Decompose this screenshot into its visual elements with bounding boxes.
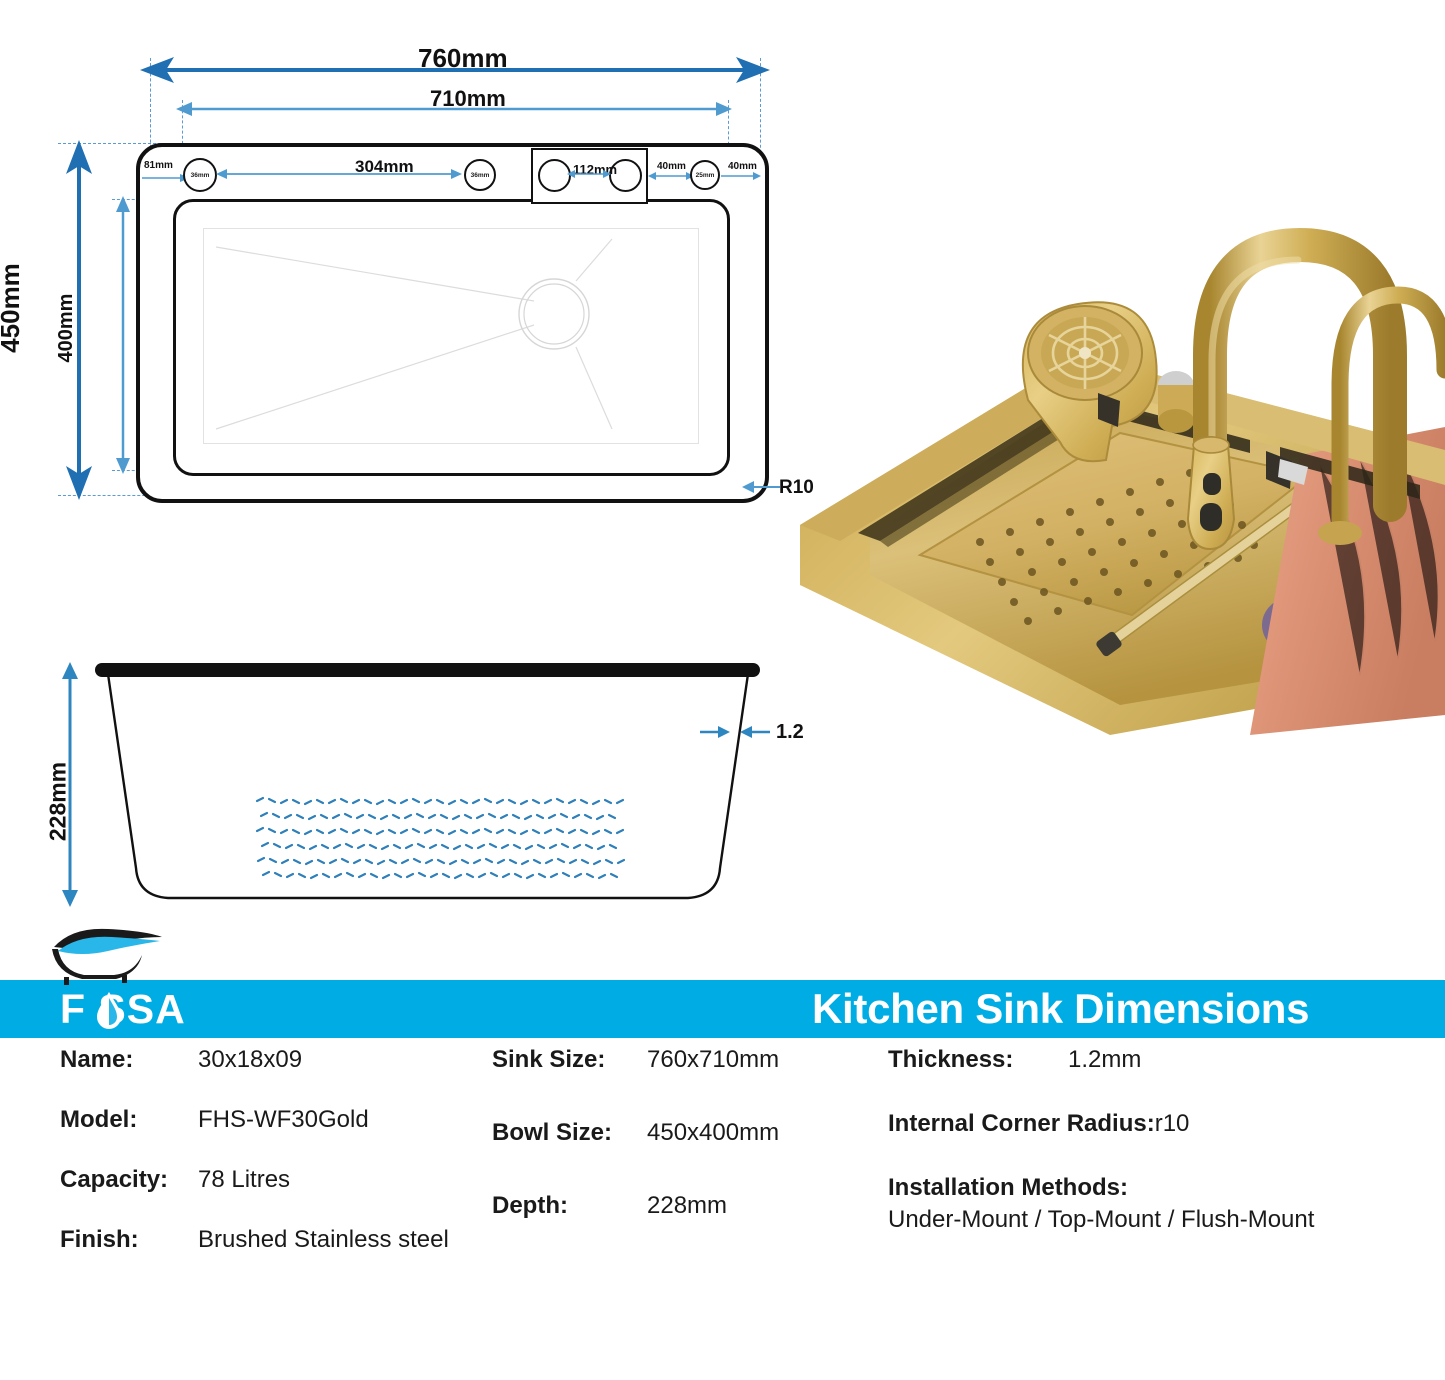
- bathtub-icon: [42, 925, 172, 985]
- brand-wordmark-text: F SSA: [60, 986, 186, 1032]
- tap-hole-1-label: 36mm: [191, 172, 210, 179]
- spec-label-depth: Depth:: [492, 1192, 647, 1220]
- corner-radius-leader: [742, 479, 780, 495]
- spec-row-finish: Finish: Brushed Stainless steel: [60, 1226, 480, 1254]
- water-drop-icon: [96, 990, 122, 1030]
- dimension-40-left-arrow: [648, 170, 694, 182]
- spec-value-corner-radius: r10: [1155, 1110, 1190, 1138]
- spec-label-thickness: Thickness:: [888, 1046, 1068, 1074]
- spec-column-3: Thickness: 1.2mm Internal Corner Radius:…: [888, 1046, 1433, 1234]
- spec-label-corner-radius: Internal Corner Radius:: [888, 1110, 1155, 1138]
- spec-label-bowl-size: Bowl Size:: [492, 1119, 647, 1147]
- dimension-81-label: 81mm: [144, 161, 173, 171]
- brand-wordmark: F SSA: [60, 982, 186, 1036]
- banner-title: Kitchen Sink Dimensions: [812, 980, 1309, 1038]
- spec-value-thickness: 1.2mm: [1068, 1046, 1141, 1074]
- tap-hole-2: 36mm: [464, 159, 496, 191]
- spec-row-installation: Installation Methods: Under-Mount / Top-…: [888, 1174, 1433, 1234]
- dimension-228-arrow: [58, 662, 82, 907]
- spec-value-bowl-size: 450x400mm: [647, 1119, 779, 1147]
- dimension-40-right-arrow: [717, 170, 761, 182]
- specification-table: Name: 30x18x09 Model: FHS-WF30Gold Capac…: [0, 1046, 1445, 1346]
- spec-row-capacity: Capacity: 78 Litres: [60, 1166, 480, 1194]
- dimension-304-arrow: [216, 167, 462, 181]
- dimension-112-arrow: [567, 168, 611, 180]
- spec-value-depth: 228mm: [647, 1192, 727, 1220]
- tap-hole-2-label: 36mm: [471, 172, 490, 179]
- spec-row-name: Name: 30x18x09: [60, 1046, 480, 1074]
- spec-row-corner-radius: Internal Corner Radius: r10: [888, 1110, 1433, 1138]
- dimension-710-arrow: [176, 98, 732, 120]
- dimension-760-arrow: [140, 55, 770, 85]
- dimension-400-arrow: [112, 196, 134, 474]
- spec-sheet: 760mm 710mm 450mm 400mm: [0, 0, 1445, 1380]
- dimension-400-label: 400mm: [56, 268, 76, 388]
- gold-sink-illustration: [780, 55, 1445, 735]
- top-view-drawing: 760mm 710mm 450mm 400mm: [0, 0, 860, 560]
- tap-hole-1: 36mm: [183, 158, 217, 192]
- spec-value-capacity: 78 Litres: [198, 1166, 290, 1194]
- bowl-slope-lines: [204, 229, 698, 443]
- spec-row-sink-size: Sink Size: 760x710mm: [492, 1046, 862, 1074]
- spec-label-model: Model:: [60, 1106, 198, 1134]
- spec-row-depth: Depth: 228mm: [492, 1192, 862, 1220]
- spec-value-finish: Brushed Stainless steel: [198, 1226, 449, 1254]
- spec-row-thickness: Thickness: 1.2mm: [888, 1046, 1433, 1074]
- spec-column-1: Name: 30x18x09 Model: FHS-WF30Gold Capac…: [60, 1046, 480, 1286]
- spec-label-capacity: Capacity:: [60, 1166, 198, 1194]
- spec-row-model: Model: FHS-WF30Gold: [60, 1106, 480, 1134]
- spec-value-model: FHS-WF30Gold: [198, 1106, 369, 1134]
- tap-hole-3: 25mm: [690, 160, 720, 190]
- spec-label-name: Name:: [60, 1046, 198, 1074]
- spec-column-2: Sink Size: 760x710mm Bowl Size: 450x400m…: [492, 1046, 862, 1265]
- bowl-inner-base: [203, 228, 699, 444]
- spec-label-finish: Finish:: [60, 1226, 198, 1254]
- dimension-450-label: 450mm: [0, 248, 23, 368]
- tap-hole-3-label: 25mm: [696, 172, 715, 179]
- spec-row-bowl-size: Bowl Size: 450x400mm: [492, 1119, 862, 1147]
- spec-value-sink-size: 760x710mm: [647, 1046, 779, 1074]
- spec-label-installation: Installation Methods:: [888, 1174, 1433, 1202]
- product-photo: [780, 55, 1445, 735]
- thickness-arrow: [700, 722, 770, 742]
- spec-value-name: 30x18x09: [198, 1046, 302, 1074]
- nano-coating-texture: [255, 795, 635, 885]
- spec-value-installation: Under-Mount / Top-Mount / Flush-Mount: [888, 1206, 1433, 1234]
- spec-label-sink-size: Sink Size:: [492, 1046, 647, 1074]
